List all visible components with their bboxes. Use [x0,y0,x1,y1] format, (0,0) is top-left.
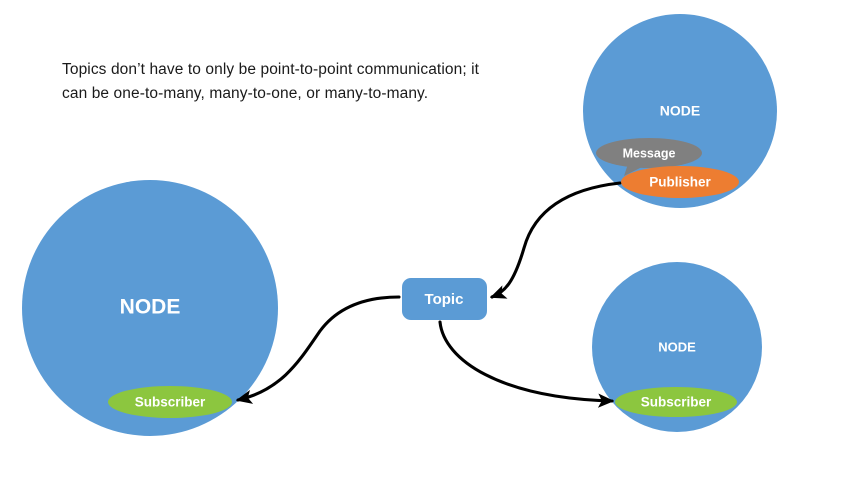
subscriber-pill-right[interactable]: Subscriber [615,387,737,417]
node-top-right-label: NODE [660,103,700,119]
message-bubble-label: Message [623,146,676,160]
arrow-topic-to-subscriber-right [440,322,612,401]
arrow-publisher-to-topic [492,183,620,297]
topic-box-label: Topic [425,291,464,308]
subscriber-pill-right-label: Subscriber [641,395,712,410]
publisher-pill-label: Publisher [649,175,711,190]
diagram-svg: NODE NODE NODE Message Publisher Su [0,0,854,480]
slide-canvas: Topics don’t have to only be point-to-po… [0,0,854,480]
publisher-pill[interactable]: Publisher [621,166,739,198]
topic-box[interactable]: Topic [402,278,487,320]
node-left-label: NODE [120,296,181,319]
subscriber-pill-left-label: Subscriber [135,395,206,410]
subscriber-pill-left[interactable]: Subscriber [108,386,232,418]
node-bottom-right-label: NODE [658,339,696,354]
